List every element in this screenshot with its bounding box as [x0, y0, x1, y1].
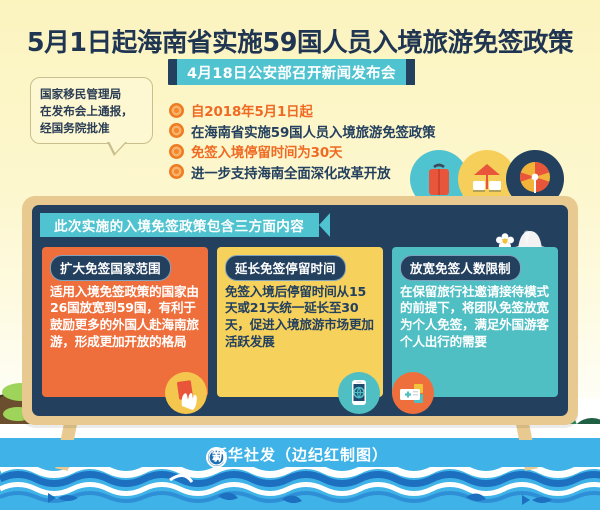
boarding-tickets-icon: [392, 372, 434, 414]
ribbon-cap-left: [168, 59, 177, 85]
page-title: 5月1日起海南省实施59国人员入境旅游免签政策: [0, 22, 600, 59]
list-item: 在海南省实施59国人员入境旅游免签政策: [169, 121, 499, 142]
bullet-dot-icon: [169, 144, 184, 159]
bullet-dot-icon: [169, 123, 184, 138]
bubble-line-1: 国家移民管理局: [40, 86, 145, 103]
card-body: 在保留旅行社邀请接待模式的前提下，将团队免签放宽为个人免签，满足外国游客个人出行…: [400, 284, 550, 352]
small-figures: [96, 484, 107, 492]
infographic-root: 5月1日起海南省实施59国人员入境旅游免签政策 4月18日公安部召开新闻发布会 …: [0, 0, 600, 510]
ribbon-cap-right: [406, 59, 415, 85]
bubble-line-2: 在发布会上通报，: [40, 103, 145, 120]
bullet-label: 自2018年5月1日起: [191, 100, 313, 120]
card-title: 扩大免签国家范围: [50, 255, 171, 281]
bubble-line-3: 经国务院批准: [40, 120, 145, 137]
board-header: 此次实施的入境免签政策包含三方面内容: [40, 213, 330, 237]
bullet-label: 进一步支持海南全面深化改革开放: [191, 162, 390, 182]
card-body: 免签入境后停留时间从15天或21天统一延长至30天，促进入境旅游市场更加活跃发展: [225, 284, 375, 352]
passport-in-hand-icon: [165, 372, 207, 414]
ribbon-label: 4月18日公安部召开新闻发布会: [177, 59, 406, 85]
bullet-dot-icon: [169, 103, 184, 118]
speech-bubble: 国家移民管理局 在发布会上通报， 经国务院批准: [30, 77, 153, 144]
subtitle-ribbon: 4月18日公安部召开新闻发布会: [168, 59, 415, 85]
card-body: 适用入境免签政策的国家由26国放宽到59国，有利于鼓励更多的外国人赴海南旅游，形…: [50, 284, 200, 352]
sea-creatures: [48, 475, 552, 505]
bullet-dot-icon: [169, 164, 184, 179]
wave-lines: [0, 466, 600, 502]
phone-globe-icon: [338, 372, 380, 414]
bullet-label: 免签入境停留时间为30天: [191, 141, 342, 161]
board-banner-label: 此次实施的入境免签政策包含三方面内容: [40, 213, 330, 237]
card-title: 放宽免签人数限制: [400, 255, 521, 281]
footer-credit: 新华社发（边纪红制图）: [0, 444, 600, 465]
list-item: 自2018年5月1日起: [169, 100, 499, 121]
card-title: 延长免签停留时间: [225, 255, 346, 281]
bubble-tail-inner: [108, 139, 128, 153]
content-cards: 扩大免签国家范围 适用入境免签政策的国家由26国放宽到59国，有利于鼓励更多的外…: [42, 247, 558, 397]
bullet-label: 在海南省实施59国人员入境旅游免签政策: [191, 121, 435, 141]
